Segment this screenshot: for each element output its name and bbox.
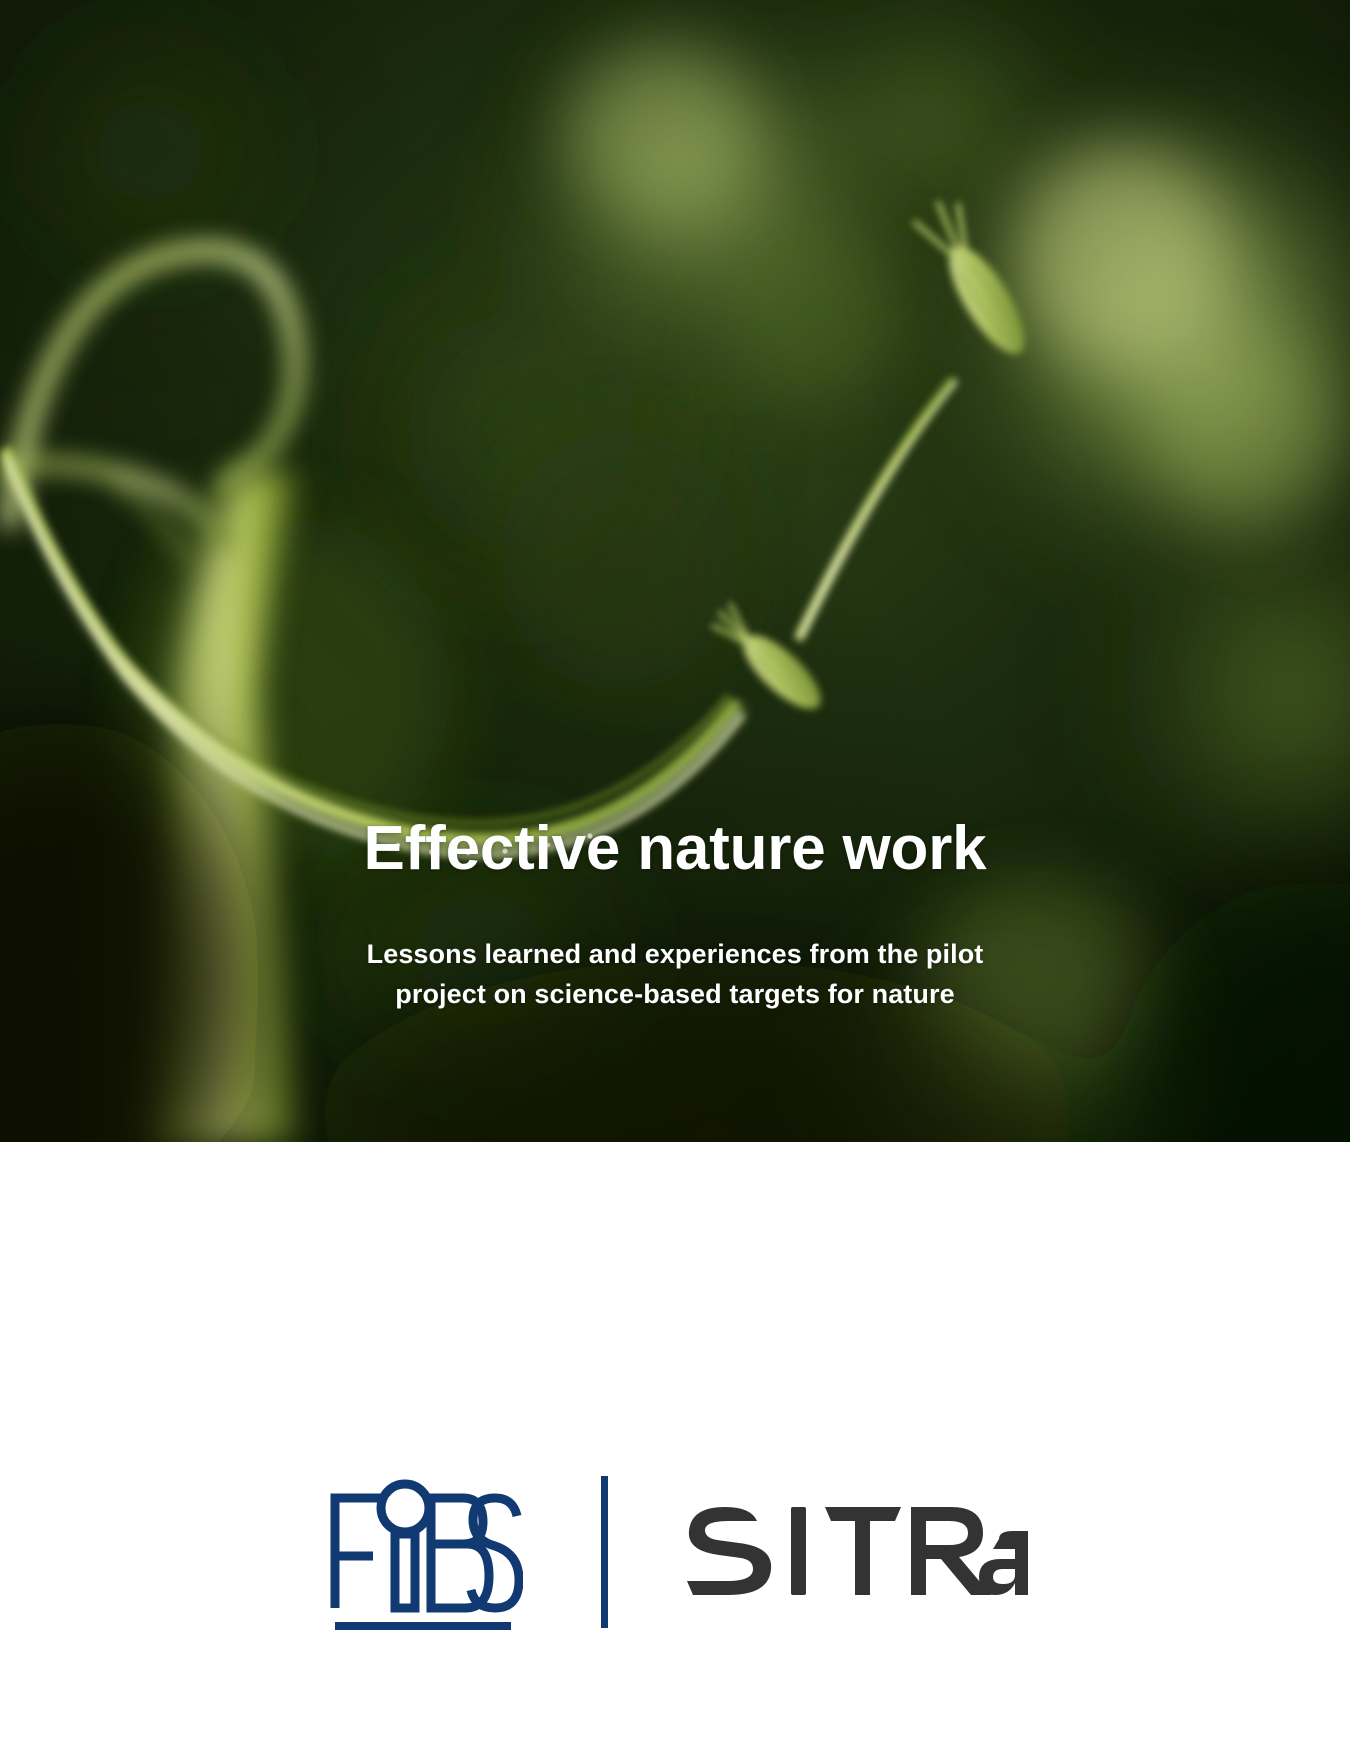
cover-page: Effective nature work Lessons learned an… — [0, 0, 1350, 1754]
logo-row — [0, 1462, 1350, 1642]
logo-divider — [601, 1476, 608, 1628]
fibs-logo[interactable] — [323, 1472, 523, 1632]
page-subtitle: Lessons learned and experiences from the… — [0, 886, 1350, 1014]
page-subtitle-line-1: Lessons learned and experiences from the… — [0, 934, 1350, 974]
fibs-logo-underline — [335, 1622, 511, 1630]
logo-band — [0, 1142, 1350, 1754]
title-block: Effective nature work Lessons learned an… — [0, 812, 1350, 1014]
sitra-logo[interactable] — [683, 1497, 1028, 1607]
page-title: Effective nature work — [0, 812, 1350, 886]
page-subtitle-line-2: project on science-based targets for nat… — [0, 974, 1350, 1014]
cover-photo: Effective nature work Lessons learned an… — [0, 0, 1350, 1142]
